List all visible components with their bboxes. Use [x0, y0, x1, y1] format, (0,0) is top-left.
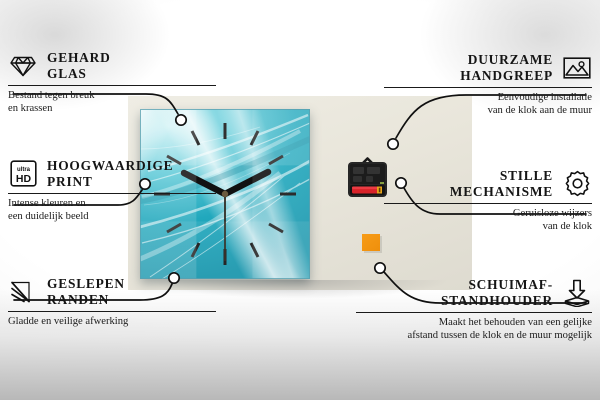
- feature-description: Geruisloze wijzers van de klok: [384, 208, 592, 233]
- feature-divider: [8, 193, 216, 194]
- diamond-icon: [8, 51, 38, 81]
- feature-header: STILLE MECHANISME: [384, 168, 592, 199]
- feature-hoogwaardige-print[interactable]: ultra HD HOOGWAARDIGE PRINT Intense kleu…: [8, 158, 216, 223]
- ultra-hd-icon: ultra HD: [8, 159, 38, 189]
- feature-schuimafstandhouder[interactable]: SCHUIMAF- STANDHOUDER Maakt het behouden…: [356, 277, 592, 342]
- feature-header: GESLEPEN RANDEN: [8, 276, 216, 307]
- gear-icon: [562, 169, 592, 199]
- foam-spacer-pad: [362, 234, 380, 251]
- feature-title: GEHARD GLAS: [47, 50, 111, 81]
- picture-frame-icon: [562, 53, 592, 83]
- feature-divider: [356, 312, 592, 313]
- feature-description: Bestand tegen breuk en krassen: [8, 90, 216, 115]
- feature-title: GESLEPEN RANDEN: [47, 276, 125, 307]
- feature-header: SCHUIMAF- STANDHOUDER: [356, 277, 592, 308]
- feature-divider: [384, 203, 592, 204]
- feature-title: HOOGWAARDIGE PRINT: [47, 158, 173, 189]
- feature-description: Maakt het behouden van een gelijke afsta…: [356, 317, 592, 342]
- feature-header: DUURZAME HANDGREEP: [384, 52, 592, 83]
- diagonal-lines-icon: [8, 277, 38, 307]
- feature-title: STILLE MECHANISME: [450, 168, 553, 199]
- feature-duurzame-handgreep[interactable]: DUURZAME HANDGREEP Eenvoudige installati…: [384, 52, 592, 117]
- infographic-canvas: GEHARD GLAS Bestand tegen breuk en krass…: [0, 0, 600, 400]
- feature-divider: [384, 87, 592, 88]
- feature-header: GEHARD GLAS: [8, 50, 216, 81]
- feature-divider: [8, 85, 216, 86]
- feature-geslepen-randen[interactable]: GESLEPEN RANDEN Gladde en veilige afwerk…: [8, 276, 216, 329]
- feature-header: ultra HD HOOGWAARDIGE PRINT: [8, 158, 216, 189]
- feature-description: Intense kleuren en een duidelijk beeld: [8, 198, 216, 223]
- feature-divider: [8, 311, 216, 312]
- feature-title: DUURZAME HANDGREEP: [460, 52, 553, 83]
- svg-text:HD: HD: [15, 173, 31, 185]
- feature-gehard-glas[interactable]: GEHARD GLAS Bestand tegen breuk en krass…: [8, 50, 216, 115]
- feature-description: Gladde en veilige afwerking: [8, 316, 216, 329]
- spacer-press-icon: [562, 278, 592, 308]
- feature-title: SCHUIMAF- STANDHOUDER: [441, 277, 553, 308]
- feature-description: Eenvoudige installatie van de klok aan d…: [384, 92, 592, 117]
- feature-stille-mechanisme[interactable]: STILLE MECHANISME Geruisloze wijzers van…: [384, 168, 592, 233]
